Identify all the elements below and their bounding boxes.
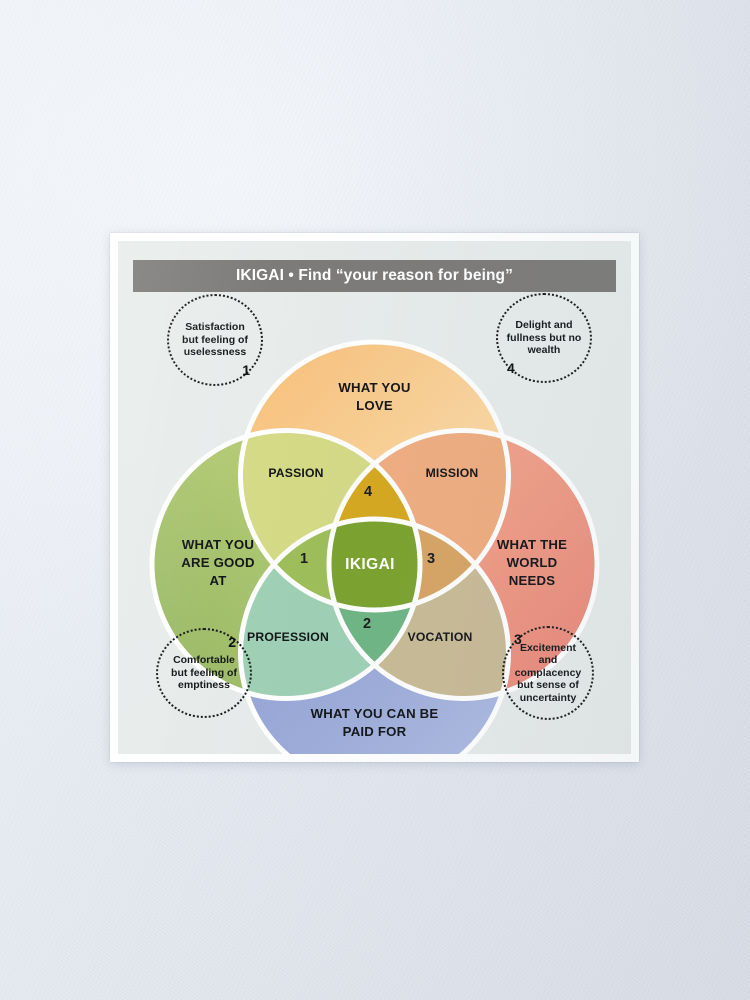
callout-bubble-4[interactable]: Delight and fullness but no wealth 4	[496, 293, 592, 383]
ikigai-poster: IKIGAI • Find “your reason for being”	[110, 233, 639, 762]
label-good-at-line1: WHAT YOU	[182, 537, 254, 552]
label-needs-line1: WHAT THE	[497, 537, 567, 552]
label-needs-line2: WORLD	[507, 555, 558, 570]
callout-3-line1: Excitement	[520, 642, 576, 654]
callout-bubble-3[interactable]: Excitement and complacency but sense of …	[502, 626, 594, 720]
label-vocation: VOCATION	[407, 630, 472, 644]
callout-4-number: 4	[507, 360, 515, 376]
label-good-at-line2: ARE GOOD	[181, 555, 254, 570]
poster-inner-canvas: IKIGAI • Find “your reason for being”	[118, 241, 631, 754]
label-paid-line1: WHAT YOU CAN BE	[311, 706, 439, 721]
label-number-3: 3	[427, 551, 435, 567]
label-number-2: 2	[363, 616, 371, 632]
callout-2-line2: but feeling of	[171, 667, 237, 679]
label-number-4: 4	[364, 484, 372, 500]
callout-1-line1: Satisfaction	[185, 321, 245, 333]
callout-1-number: 1	[242, 362, 250, 378]
label-love-line1: WHAT YOU	[338, 380, 410, 395]
callout-4-line1: Delight and	[515, 319, 572, 331]
callout-3-line4: but sense of	[517, 679, 579, 691]
callout-1-text: Satisfaction but feeling of uselessness	[176, 321, 254, 358]
callout-3-line2: and	[539, 654, 558, 666]
label-mission: MISSION	[426, 466, 479, 480]
label-love-line2: LOVE	[356, 398, 393, 413]
callout-4-line2: fullness but no	[507, 332, 582, 344]
callout-3-line3: complacency	[515, 667, 582, 679]
callout-3-number: 3	[514, 631, 522, 647]
callout-1-line3: uselessness	[184, 346, 246, 358]
callout-4-text: Delight and fullness but no wealth	[501, 319, 588, 356]
label-number-1: 1	[300, 551, 308, 567]
label-passion: PASSION	[268, 466, 323, 480]
callout-bubble-1[interactable]: Satisfaction but feeling of uselessness …	[167, 294, 263, 386]
callout-1-line2: but feeling of	[182, 334, 248, 346]
poster-title-bar: IKIGAI • Find “your reason for being”	[133, 260, 616, 292]
callout-4-line3: wealth	[528, 344, 561, 356]
callout-2-line1: Comfortable	[173, 654, 235, 666]
callout-2-number: 2	[228, 634, 236, 650]
label-ikigai-core: IKIGAI	[345, 556, 395, 573]
label-paid-line2: PAID FOR	[343, 724, 407, 739]
callout-3-line5: uncertainty	[520, 692, 577, 704]
label-needs-line3: NEEDS	[509, 573, 555, 588]
callout-2-line3: emptiness	[178, 679, 230, 691]
callout-bubble-2[interactable]: Comfortable but feeling of emptiness 2	[156, 628, 252, 718]
label-good-at-line3: AT	[210, 573, 227, 588]
label-profession: PROFESSION	[247, 630, 329, 644]
page-title: IKIGAI • Find “your reason for being”	[236, 267, 513, 285]
callout-2-text: Comfortable but feeling of emptiness	[165, 654, 243, 691]
callout-3-text: Excitement and complacency but sense of …	[509, 642, 588, 704]
